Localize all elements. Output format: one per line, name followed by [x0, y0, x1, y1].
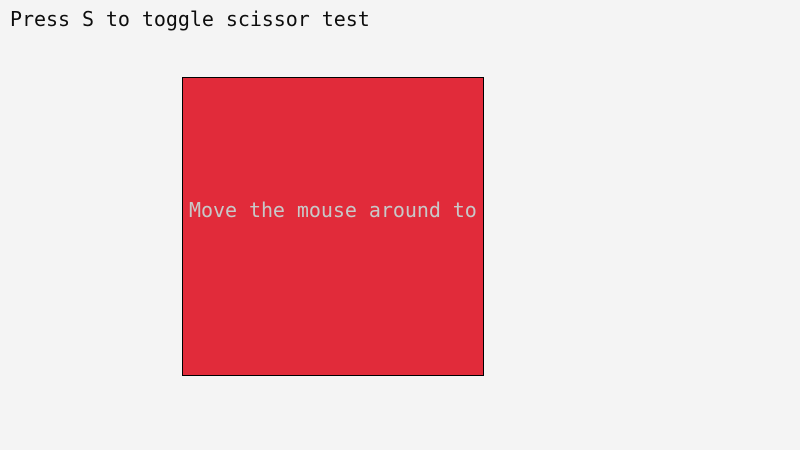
scissor-toggle-hint: Press S to toggle scissor test — [10, 8, 370, 30]
raylib-window: Press S to toggle scissor test Move the … — [0, 0, 800, 450]
clipped-message-text: Move the mouse around to reveal the rest… — [189, 199, 484, 221]
scissor-rectangle[interactable]: Move the mouse around to reveal the rest… — [182, 77, 484, 376]
